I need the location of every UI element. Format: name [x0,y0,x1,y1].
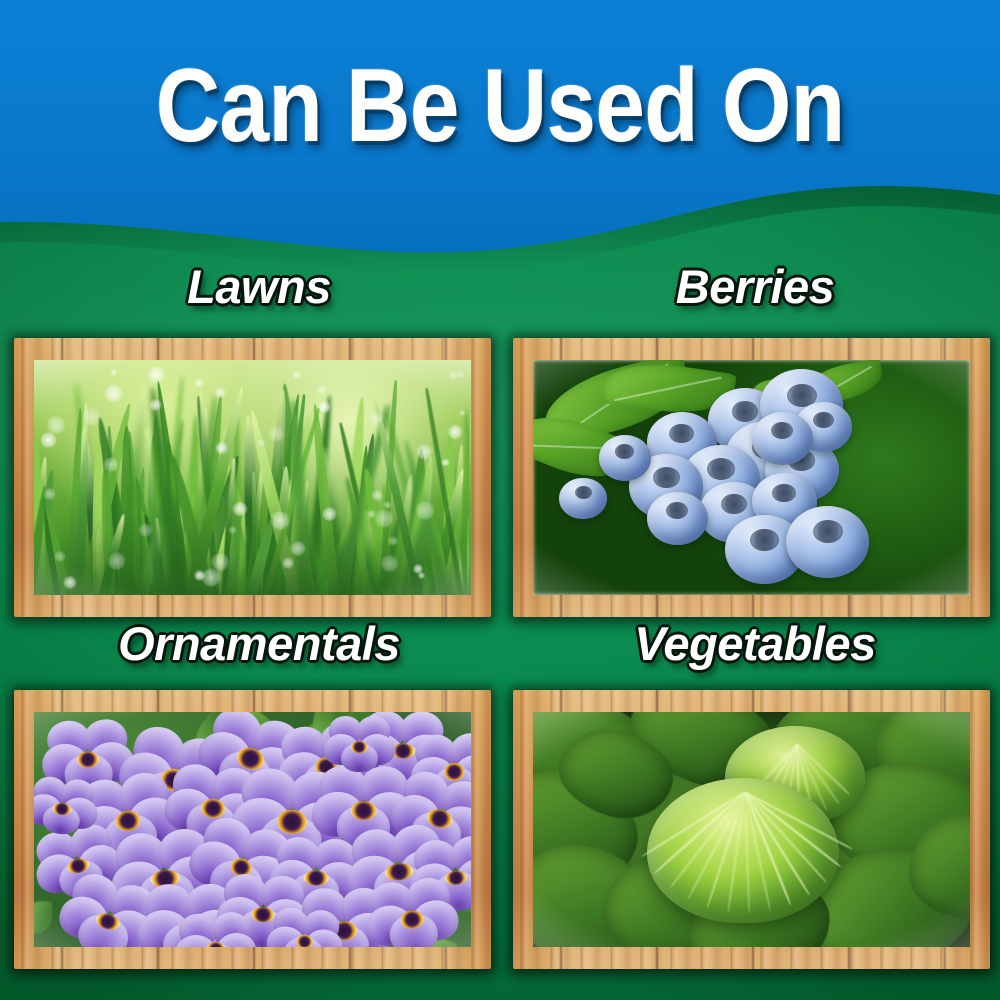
photo-frame-berries [513,338,990,617]
photo-vegetables [533,712,970,947]
panel-label-vegetables: Vegetables [510,620,1000,667]
panel-label-berries: Berries [510,263,1000,310]
cabbage-scene [533,712,970,947]
lawn-scene [34,360,471,595]
photo-frame-vegetables [513,690,990,969]
photo-frame-ornamentals [14,690,491,969]
photo-ornamentals [34,712,471,947]
panel-label-ornamentals: Ornamentals [14,620,504,667]
photo-berries [533,360,970,595]
can-be-used-on-poster: Can Be Used On Lawns Berries Ornamentals [0,0,1000,1000]
berry-scene [533,360,970,595]
panel-label-lawns: Lawns [14,263,504,310]
pansy-scene [34,712,471,947]
photo-frame-lawns [14,338,491,617]
page-title: Can Be Used On [70,54,930,158]
photo-lawns [34,360,471,595]
